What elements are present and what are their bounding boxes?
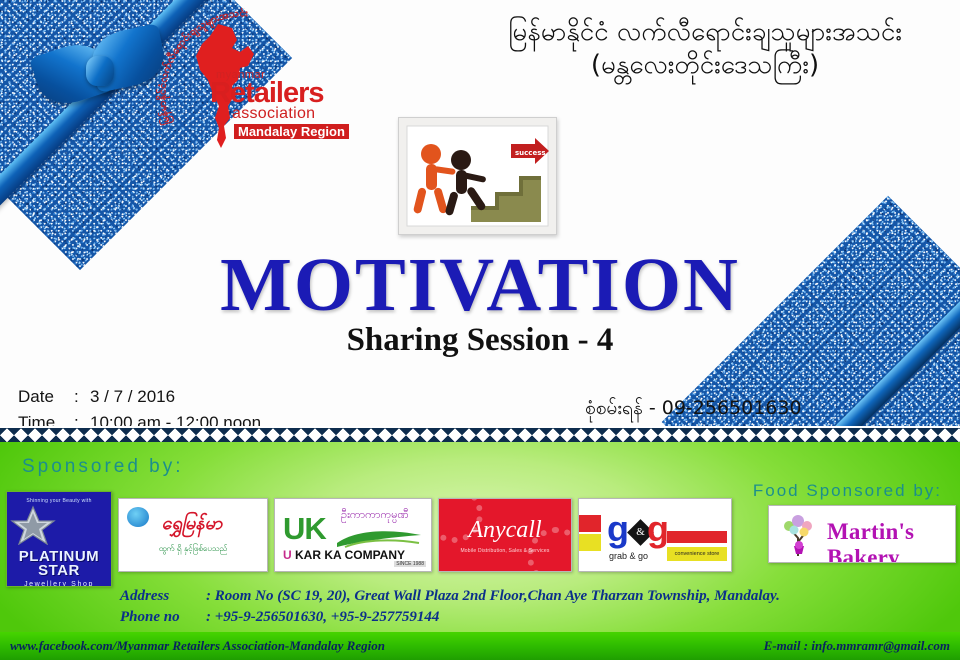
page-title: MOTIVATION — [0, 242, 960, 329]
footer-facebook-link[interactable]: www.facebook.com/Myanmar Retailers Assoc… — [10, 638, 385, 654]
poster-top-panel: မြန်မာနိုင်ငံလက်လီရောင်းချသူများအသင်း my… — [0, 0, 960, 432]
tree-icon — [775, 510, 823, 558]
red-bar-left — [579, 515, 601, 532]
grab-and-go-g1: g — [607, 511, 629, 547]
uk-since-badge: SINCE 1988 — [394, 561, 426, 567]
event-poster: မြန်မာနိုင်ငံလက်လီရောင်းချသူများအသင်း my… — [0, 0, 960, 660]
phone-line: Phone no: +95-9-256501630, +95-9-2577591… — [120, 607, 780, 628]
yellow-bar-right: convenience store — [667, 547, 727, 561]
address-value: : Room No (SC 19, 20), Great Wall Plaza … — [206, 588, 780, 604]
uk-company-initial: U — [283, 548, 292, 562]
motivation-illustration: success — [398, 117, 557, 235]
uk-company-name: KAR KA COMPANY — [295, 548, 405, 562]
address-line: Address: Room No (SC 19, 20), Great Wall… — [120, 586, 780, 607]
yellow-bar-left — [579, 534, 601, 551]
poster-footer: www.facebook.com/Myanmar Retailers Assoc… — [0, 632, 960, 660]
logo-wordmark-region: Mandalay Region — [234, 124, 349, 139]
leaf-swoosh-icon — [335, 527, 423, 549]
grab-and-go-g2: g — [647, 511, 669, 547]
bow-knot — [86, 56, 114, 86]
sponsor-logo-row: Shinning your Beauty with PLATINUM STAR … — [0, 491, 960, 575]
organization-header: မြန်မာနိုင်ငံ လက်လီရောင်းချသူများအသင်း (… — [470, 16, 940, 82]
event-datetime-block: Date : 3 / 7 / 2016 Time : 10:00 am - 12… — [18, 384, 261, 432]
page-subtitle: Sharing Session - 4 — [0, 322, 960, 359]
shwe-myanmar-subtitle: ထွက် ရှိ နှင့်ဖြစ်ပေသည် — [119, 543, 267, 555]
event-date-label: Date — [18, 384, 74, 410]
address-label: Address — [120, 586, 206, 607]
event-date-value: 3 / 7 / 2016 — [90, 384, 175, 410]
uk-burmese-name: ဦးကာကာကုမ္ပဏီ — [341, 508, 409, 524]
star-icon — [7, 505, 59, 545]
grab-and-go-mark: g & g convenience store — [579, 515, 731, 551]
logo-wordmark: myanmar Retailers association Mandalay R… — [210, 70, 360, 140]
event-date-row: Date : 3 / 7 / 2016 — [18, 384, 261, 410]
uk-company-line: U KAR KA COMPANY — [283, 548, 405, 562]
gift-bow-icon — [36, 28, 164, 124]
red-bar-right — [667, 531, 727, 543]
contact-address-block: Address: Room No (SC 19, 20), Great Wall… — [120, 586, 780, 629]
enquiry-phone: စုံစမ်းရန် - 09-256501630 — [585, 396, 802, 424]
association-logo: မြန်မာနိုင်ငံလက်လီရောင်းချသူများအသင်း my… — [150, 8, 365, 158]
sponsor-logo-uk-kar-ka: UK ဦးကာကာကုမ္ပဏီ U KAR KA COMPANY SINCE … — [274, 498, 432, 572]
martins-bakery-title: Martin's Bakery — [827, 519, 955, 563]
event-date-colon: : — [74, 384, 90, 410]
motivation-illustration-graphic: success — [399, 118, 556, 234]
footer-email[interactable]: E-mail : info.mmramr@gmail.com — [764, 638, 950, 654]
shwe-myanmar-script: ရွှေမြန်မာ — [118, 511, 268, 538]
organization-name-line1: မြန်မာနိုင်ငံ လက်လီရောင်းချသူများအသင်း — [470, 16, 940, 49]
grab-and-go-subtitle: grab & go — [609, 551, 648, 561]
logo-wordmark-association: association — [210, 106, 360, 122]
sponsor-logo-grab-and-go: g & g convenience store grab & go — [578, 498, 732, 572]
sponsor-logo-martins-bakery: Martin's Bakery — [768, 505, 956, 563]
sponsor-logo-anycall: Anycall Mobile Distribution, Sales & Ser… — [438, 498, 572, 572]
sponsor-logo-platinum-star: Shinning your Beauty with PLATINUM STAR … — [6, 491, 112, 587]
svg-text:success: success — [515, 149, 546, 157]
logo-wordmark-retailers: Retailers — [210, 79, 360, 108]
platinum-star-tagline: Shinning your Beauty with — [7, 498, 111, 504]
sponsor-logo-shwe-myanmar: ရွှေမြန်မာ ထွက် ရှိ နှင့်ဖြစ်ပေသည် — [118, 498, 268, 572]
platinum-star-title2: STAR — [7, 564, 111, 578]
platinum-star-subtitle: Jewellery Shop — [7, 581, 111, 588]
zigzag-separator-decoration — [0, 428, 960, 442]
sponsored-by-heading: Sponsored by: — [22, 456, 184, 478]
grab-and-go-tag: convenience store — [667, 547, 727, 561]
phone-value: : +95-9-256501630, +95-9-257759144 — [206, 609, 439, 625]
organization-name-line2: (မန္တလေးတိုင်းဒေသကြီး) — [470, 49, 940, 83]
phone-label: Phone no — [120, 607, 206, 628]
uk-monogram: UK — [283, 511, 326, 547]
